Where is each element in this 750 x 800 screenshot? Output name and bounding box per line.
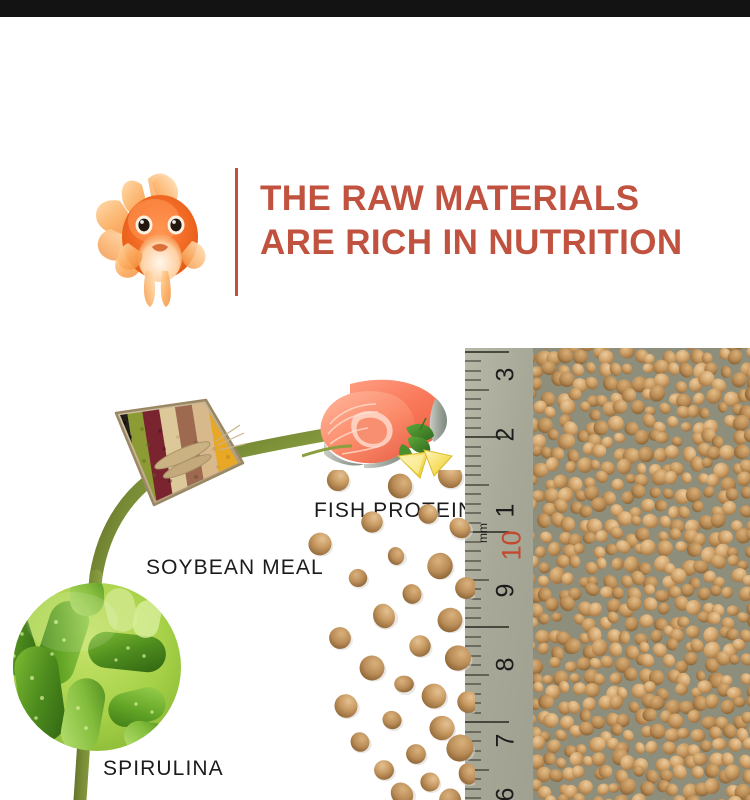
goldfish-icon	[80, 163, 230, 313]
soybean-meal-image	[98, 397, 258, 512]
heading-block: THE RAW MATERIALS ARE RICH IN NUTRITION	[235, 168, 683, 296]
spirulina-image	[12, 582, 182, 752]
infographic-page: THE RAW MATERIALS ARE RICH IN NUTRITION	[0, 0, 750, 800]
ruler-number-9: 9	[491, 584, 520, 598]
loose-pellets	[300, 470, 475, 800]
heading-line-2: ARE RICH IN NUTRITION	[260, 221, 683, 265]
ruler-unit-label: mm	[476, 523, 490, 543]
pellet-mass	[533, 348, 750, 800]
ruler-number-3: 3	[491, 368, 520, 382]
pellet-ruler-photo: 3 2 1 mm 10 9 8 7 6	[465, 348, 750, 800]
ruler-number-6: 6	[491, 788, 520, 800]
ruler-ticks	[465, 348, 537, 800]
ruler-number-10: 10	[497, 530, 528, 560]
ruler-number-7: 7	[491, 734, 520, 748]
pellet-mass-render	[533, 348, 750, 800]
heading-accent-bar	[235, 168, 238, 296]
ruler-number-8: 8	[491, 658, 520, 672]
ingredient-label-spirulina: SPIRULINA	[103, 757, 224, 781]
ruler-strip: 3 2 1 mm 10 9 8 7 6	[465, 348, 537, 800]
ruler-number-2: 2	[491, 428, 520, 442]
heading-line-1: THE RAW MATERIALS	[260, 177, 683, 221]
ruler-number-1: 1	[491, 504, 520, 518]
top-black-bar	[0, 0, 750, 17]
page-title: THE RAW MATERIALS ARE RICH IN NUTRITION	[260, 168, 683, 265]
ingredient-label-soybean: SOYBEAN MEAL	[146, 556, 324, 580]
